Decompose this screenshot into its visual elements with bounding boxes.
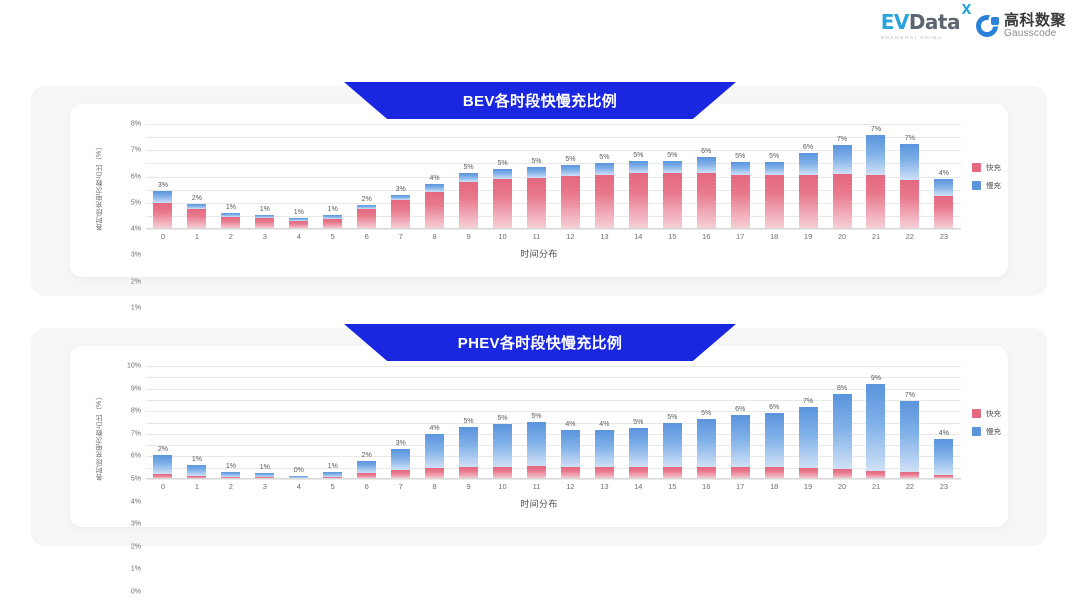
bar-segment-slow-charge[interactable] [900, 144, 919, 181]
bar-stack[interactable] [833, 145, 852, 229]
bar-stack[interactable] [561, 165, 580, 229]
bar-slot[interactable]: 1% [248, 124, 282, 229]
x-axis-tick-label: 23 [927, 232, 961, 241]
bar-slot[interactable]: 4% [587, 366, 621, 479]
x-axis-tick-label: 12 [553, 232, 587, 241]
bar-stack[interactable] [629, 161, 648, 229]
bar-stack[interactable] [323, 215, 342, 229]
bar-data-label: 7% [837, 136, 847, 143]
gausscode-text: 高科数聚 Gausscode [1004, 13, 1066, 39]
bar-data-label: 7% [905, 392, 915, 399]
bar-slot[interactable]: 5% [452, 366, 486, 479]
bar-data-label: 2% [158, 446, 168, 453]
bar-segment-slow-charge[interactable] [153, 455, 172, 474]
bar-segment-fast-charge[interactable] [663, 173, 682, 229]
gausscode-name-cn: 高科数聚 [1004, 13, 1066, 29]
bar-segment-fast-charge[interactable] [527, 178, 546, 229]
bar-stack[interactable] [527, 422, 546, 479]
bar-data-label: 5% [667, 414, 677, 421]
bar-stack[interactable] [357, 205, 376, 229]
bar-segment-slow-charge[interactable] [765, 413, 784, 466]
ribbon-title-phev-text: PHEV各时段快慢充比例 [458, 332, 622, 353]
y-axis-tick-label: 1% [131, 566, 141, 573]
ribbon-title-bev-text: BEV各时段快慢充比例 [463, 90, 617, 111]
bar-slot[interactable]: 4% [553, 366, 587, 479]
bar-stack[interactable] [866, 135, 885, 230]
bar-slot[interactable]: 7% [893, 124, 927, 229]
bar-segment-fast-charge[interactable] [391, 200, 410, 229]
bar-data-label: 6% [701, 148, 711, 155]
bar-segment-fast-charge[interactable] [934, 196, 953, 229]
bar-segment-slow-charge[interactable] [629, 161, 648, 172]
y-axis-label-bev: 各时段充电次数占比（%） [95, 126, 105, 231]
x-axis-tick-label: 0 [146, 482, 180, 491]
bar-slot[interactable]: 7% [893, 366, 927, 479]
bar-stack[interactable] [153, 191, 172, 229]
bar-stack[interactable] [731, 415, 750, 479]
x-axis-tick-label: 6 [350, 482, 384, 491]
bar-stack[interactable] [833, 394, 852, 479]
chart-phev: 各时段充电次数占比（%） 0%1%2%3%4%5%6%7%8%9%10% 2%1… [70, 346, 1008, 527]
bar-slot[interactable]: 3% [384, 366, 418, 479]
bar-series-phev: 2%1%1%1%0%1%2%3%4%5%5%5%4%4%5%5%5%6%6%7%… [146, 366, 961, 479]
x-axis-tick-label: 0 [146, 232, 180, 241]
bar-slot[interactable]: 7% [859, 124, 893, 229]
x-axis-tick-label: 17 [723, 482, 757, 491]
bar-data-label: 5% [497, 160, 507, 167]
bar-slot[interactable]: 5% [655, 366, 689, 479]
x-axis-tick-label: 20 [825, 232, 859, 241]
bar-data-label: 4% [939, 170, 949, 177]
bar-stack[interactable] [153, 455, 172, 479]
bar-slot[interactable]: 1% [214, 124, 248, 229]
bar-slot[interactable]: 6% [791, 124, 825, 229]
bar-slot[interactable]: 0% [282, 366, 316, 479]
bar-segment-slow-charge[interactable] [866, 384, 885, 472]
x-axis-ticks-bev: 01234567891011121314151617181920212223 [146, 232, 961, 241]
x-axis-tick-label: 21 [859, 232, 893, 241]
chart-card-phev: 各时段充电次数占比（%） 0%1%2%3%4%5%6%7%8%9%10% 2%1… [70, 346, 1008, 527]
ribbon-title-bev: BEV各时段快慢充比例 [344, 82, 736, 119]
bar-stack[interactable] [425, 184, 444, 229]
x-axis-ticks-phev: 01234567891011121314151617181920212223 [146, 482, 961, 491]
y-axis-tick-label: 5% [131, 199, 141, 206]
bar-segment-fast-charge[interactable] [595, 175, 614, 229]
x-axis-tick-label: 4 [282, 482, 316, 491]
bar-stack[interactable] [357, 461, 376, 479]
bar-segment-fast-charge[interactable] [833, 174, 852, 229]
bar-segment-slow-charge[interactable] [561, 165, 580, 176]
bar-segment-fast-charge[interactable] [425, 192, 444, 229]
bar-segment-slow-charge[interactable] [187, 465, 206, 475]
bar-data-label: 3% [396, 440, 406, 447]
bar-segment-slow-charge[interactable] [561, 430, 580, 466]
bar-stack[interactable] [697, 157, 716, 229]
x-axis-tick-label: 2 [214, 232, 248, 241]
bar-slot[interactable]: 5% [452, 124, 486, 229]
bar-segment-slow-charge[interactable] [833, 145, 852, 174]
bar-data-label: 2% [362, 452, 372, 459]
bar-segment-slow-charge[interactable] [663, 161, 682, 173]
bar-data-label: 5% [463, 418, 473, 425]
x-axis-label-bev: 时间分布 [70, 247, 1008, 260]
gausscode-name-en: Gausscode [1004, 29, 1066, 40]
bar-stack[interactable] [187, 465, 206, 479]
bar-segment-slow-charge[interactable] [934, 179, 953, 196]
x-axis-tick-label: 6 [350, 232, 384, 241]
bar-stack[interactable] [425, 434, 444, 479]
legend-label: 慢充 [986, 180, 1001, 191]
bar-data-label: 9% [871, 375, 881, 382]
x-axis-tick-label: 15 [655, 232, 689, 241]
x-axis-tick-label: 14 [621, 232, 655, 241]
y-axis-label-phev: 各时段充电次数占比（%） [95, 368, 105, 481]
y-axis-tick-label: 2% [131, 278, 141, 285]
bar-segment-fast-charge[interactable] [187, 209, 206, 229]
bar-segment-fast-charge[interactable] [493, 179, 512, 229]
bar-slot[interactable]: 5% [621, 366, 655, 479]
x-axis-tick-label: 10 [486, 232, 520, 241]
legend-swatch [972, 409, 981, 418]
bar-slot[interactable]: 6% [689, 124, 723, 229]
bar-data-label: 7% [905, 135, 915, 142]
bar-stack[interactable] [866, 384, 885, 479]
bar-data-label: 5% [769, 153, 779, 160]
x-axis-line-bev [146, 228, 961, 229]
bar-stack[interactable] [391, 449, 410, 480]
bar-segment-fast-charge[interactable] [629, 173, 648, 229]
bar-data-label: 4% [430, 175, 440, 182]
evdata-prefix: EV [881, 10, 909, 34]
bar-stack[interactable] [900, 144, 919, 229]
bar-slot[interactable]: 2% [350, 124, 384, 229]
x-axis-tick-label: 11 [519, 482, 553, 491]
bar-data-label: 8% [837, 385, 847, 392]
gausscode-logo: 高科数聚 Gausscode [976, 13, 1066, 39]
bar-slot[interactable]: 9% [859, 366, 893, 479]
x-axis-tick-label: 2 [214, 482, 248, 491]
bar-segment-slow-charge[interactable] [425, 434, 444, 468]
bar-segment-slow-charge[interactable] [391, 449, 410, 470]
plot-area-phev: 0%1%2%3%4%5%6%7%8%9%10% 2%1%1%1%0%1%2%3%… [146, 366, 961, 479]
bar-segment-fast-charge[interactable] [561, 176, 580, 229]
x-axis-tick-label: 10 [486, 482, 520, 491]
y-axis-tick-label: 2% [131, 543, 141, 550]
legend-item[interactable]: 慢充 [972, 180, 1001, 191]
bar-slot[interactable]: 1% [180, 366, 214, 479]
x-axis-tick-label: 21 [859, 482, 893, 491]
bar-data-label: 5% [599, 154, 609, 161]
bar-stack[interactable] [697, 419, 716, 479]
bar-data-label: 1% [328, 463, 338, 470]
bar-stack[interactable] [765, 162, 784, 229]
bar-segment-fast-charge[interactable] [357, 209, 376, 229]
bar-data-label: 5% [701, 410, 711, 417]
bar-segment-slow-charge[interactable] [799, 153, 818, 175]
y-axis-tick-label: 8% [131, 121, 141, 128]
bar-segment-fast-charge[interactable] [799, 175, 818, 229]
bar-slot[interactable]: 5% [757, 124, 791, 229]
bar-stack[interactable] [187, 204, 206, 229]
x-axis-tick-label: 11 [519, 232, 553, 241]
bar-data-label: 1% [226, 463, 236, 470]
bar-segment-fast-charge[interactable] [866, 175, 885, 229]
x-axis-tick-label: 14 [621, 482, 655, 491]
bar-series-bev: 3%2%1%1%1%1%2%3%4%5%5%5%5%5%5%5%6%5%5%6%… [146, 124, 961, 229]
x-axis-tick-label: 19 [791, 232, 825, 241]
y-axis-tick-label: 7% [131, 147, 141, 154]
bar-stack[interactable] [934, 439, 953, 479]
bar-segment-fast-charge[interactable] [900, 180, 919, 229]
bar-data-label: 5% [497, 415, 507, 422]
bar-slot[interactable]: 3% [146, 124, 180, 229]
bar-slot[interactable]: 5% [553, 124, 587, 229]
x-axis-tick-label: 5 [316, 232, 350, 241]
bar-slot[interactable]: 7% [825, 124, 859, 229]
evdata-suffix: Data [909, 10, 960, 34]
bar-data-label: 3% [396, 186, 406, 193]
bar-stack[interactable] [595, 430, 614, 479]
x-axis-line-phev [146, 478, 961, 479]
x-axis-tick-label: 7 [384, 482, 418, 491]
bar-data-label: 1% [226, 204, 236, 211]
bar-data-label: 5% [463, 164, 473, 171]
x-axis-tick-label: 5 [316, 482, 350, 491]
bar-segment-slow-charge[interactable] [934, 439, 953, 475]
x-axis-tick-label: 4 [282, 232, 316, 241]
x-axis-tick-label: 13 [587, 232, 621, 241]
x-axis-tick-label: 7 [384, 232, 418, 241]
bar-slot[interactable]: 6% [757, 366, 791, 479]
bar-segment-slow-charge[interactable] [595, 163, 614, 174]
bar-data-label: 4% [939, 430, 949, 437]
bar-data-label: 0% [294, 467, 304, 474]
bar-data-label: 6% [803, 144, 813, 151]
bar-segment-slow-charge[interactable] [900, 401, 919, 472]
bar-data-label: 6% [769, 404, 779, 411]
bar-data-label: 5% [633, 419, 643, 426]
x-axis-tick-label: 20 [825, 482, 859, 491]
bar-slot[interactable]: 4% [418, 124, 452, 229]
legend-item[interactable]: 快充 [972, 162, 1001, 173]
bar-slot[interactable]: 7% [791, 366, 825, 479]
bar-segment-slow-charge[interactable] [799, 407, 818, 468]
legend-swatch [972, 427, 981, 436]
y-axis-tick-label: 6% [131, 453, 141, 460]
bar-data-label: 7% [803, 398, 813, 405]
x-axis-tick-label: 9 [452, 232, 486, 241]
legend-swatch [972, 163, 981, 172]
bar-slot[interactable]: 5% [519, 124, 553, 229]
gridline: 0% [146, 229, 961, 230]
legend-item[interactable]: 慢充 [972, 426, 1001, 437]
bar-stack[interactable] [255, 215, 274, 229]
bar-stack[interactable] [799, 153, 818, 229]
slide-root: EVDataX SHANGHAI CHINA 高科数聚 Gausscode 各时… [0, 0, 1080, 608]
x-axis-tick-label: 12 [553, 482, 587, 491]
legend-label: 慢充 [986, 426, 1001, 437]
x-axis-tick-label: 18 [757, 482, 791, 491]
y-axis-tick-label: 0% [131, 589, 141, 596]
bar-data-label: 4% [430, 425, 440, 432]
bar-data-label: 4% [565, 421, 575, 428]
bar-data-label: 1% [328, 206, 338, 213]
chart-bev: 各时段充电次数占比（%） 0%1%2%3%4%5%6%7%8% 3%2%1%1%… [70, 104, 1008, 277]
evdata-superscript-icon: X [961, 4, 971, 17]
legend-swatch [972, 181, 981, 190]
bar-segment-slow-charge[interactable] [731, 415, 750, 467]
bar-stack[interactable] [934, 179, 953, 229]
x-axis-tick-label: 8 [418, 482, 452, 491]
bar-segment-slow-charge[interactable] [153, 191, 172, 203]
gridline: 0% [146, 479, 961, 480]
y-axis-tick-label: 1% [131, 304, 141, 311]
bar-segment-slow-charge[interactable] [866, 135, 885, 176]
x-axis-tick-label: 8 [418, 232, 452, 241]
bar-slot[interactable]: 5% [519, 366, 553, 479]
legend-phev: 快充慢充 [972, 408, 1001, 437]
legend-item[interactable]: 快充 [972, 408, 1001, 419]
x-axis-tick-label: 3 [248, 482, 282, 491]
bar-segment-slow-charge[interactable] [731, 162, 750, 175]
bar-slot[interactable]: 1% [248, 366, 282, 479]
bar-segment-slow-charge[interactable] [527, 422, 546, 466]
bar-data-label: 5% [633, 152, 643, 159]
y-axis-tick-label: 4% [131, 226, 141, 233]
x-axis-tick-label: 1 [180, 232, 214, 241]
bar-slot[interactable]: 5% [587, 124, 621, 229]
bar-stack[interactable] [765, 413, 784, 479]
bar-segment-fast-charge[interactable] [459, 182, 478, 229]
bar-slot[interactable]: 5% [486, 366, 520, 479]
bar-slot[interactable]: 5% [621, 124, 655, 229]
bar-stack[interactable] [459, 427, 478, 479]
bar-stack[interactable] [391, 195, 410, 229]
bar-data-label: 5% [735, 153, 745, 160]
bar-slot[interactable]: 8% [825, 366, 859, 479]
bar-slot[interactable]: 5% [689, 366, 723, 479]
bar-data-label: 1% [192, 456, 202, 463]
bar-segment-fast-charge[interactable] [765, 175, 784, 229]
x-axis-tick-label: 22 [893, 482, 927, 491]
y-axis-tick-label: 6% [131, 173, 141, 180]
x-axis-tick-label: 15 [655, 482, 689, 491]
bar-stack[interactable] [493, 424, 512, 479]
bar-segment-slow-charge[interactable] [697, 419, 716, 467]
bar-segment-slow-charge[interactable] [357, 461, 376, 473]
bar-segment-slow-charge[interactable] [663, 423, 682, 467]
evdata-wordmark: EVDataX [881, 12, 960, 32]
bar-data-label: 5% [565, 156, 575, 163]
bar-stack[interactable] [459, 173, 478, 229]
bar-slot[interactable]: 1% [316, 124, 350, 229]
bar-segment-slow-charge[interactable] [459, 173, 478, 182]
x-axis-tick-label: 18 [757, 232, 791, 241]
legend-label: 快充 [986, 408, 1001, 419]
bar-data-label: 2% [362, 196, 372, 203]
evdata-logo: EVDataX SHANGHAI CHINA [881, 12, 960, 40]
bar-segment-slow-charge[interactable] [765, 162, 784, 175]
bar-slot[interactable]: 1% [282, 124, 316, 229]
bar-slot[interactable]: 4% [927, 366, 961, 479]
bar-segment-slow-charge[interactable] [697, 157, 716, 173]
bar-segment-fast-charge[interactable] [697, 173, 716, 229]
bar-slot[interactable]: 6% [723, 366, 757, 479]
bar-slot[interactable]: 5% [486, 124, 520, 229]
bar-stack[interactable] [595, 163, 614, 229]
bar-segment-slow-charge[interactable] [527, 167, 546, 178]
bar-stack[interactable] [527, 167, 546, 229]
bar-segment-slow-charge[interactable] [595, 430, 614, 467]
y-axis-tick-label: 8% [131, 408, 141, 415]
bar-segment-slow-charge[interactable] [425, 184, 444, 191]
bar-slot[interactable]: 3% [384, 124, 418, 229]
bar-slot[interactable]: 1% [316, 366, 350, 479]
bar-data-label: 3% [158, 182, 168, 189]
bar-slot[interactable]: 5% [723, 124, 757, 229]
bar-data-label: 1% [260, 206, 270, 213]
x-axis-tick-label: 17 [723, 232, 757, 241]
bar-stack[interactable] [493, 169, 512, 229]
x-axis-tick-label: 23 [927, 482, 961, 491]
bar-stack[interactable] [900, 401, 919, 479]
bar-data-label: 2% [192, 195, 202, 202]
ribbon-title-phev: PHEV各时段快慢充比例 [344, 324, 736, 361]
bar-slot[interactable]: 2% [350, 366, 384, 479]
legend-label: 快充 [986, 162, 1001, 173]
bar-segment-slow-charge[interactable] [493, 169, 512, 180]
legend-bev: 快充慢充 [972, 162, 1001, 191]
chart-card-bev: 各时段充电次数占比（%） 0%1%2%3%4%5%6%7%8% 3%2%1%1%… [70, 104, 1008, 277]
x-axis-tick-label: 16 [689, 232, 723, 241]
y-axis-tick-label: 7% [131, 430, 141, 437]
x-axis-tick-label: 3 [248, 232, 282, 241]
x-axis-tick-label: 19 [791, 482, 825, 491]
bar-slot[interactable]: 2% [146, 366, 180, 479]
bar-stack[interactable] [221, 213, 240, 229]
x-axis-label-phev: 时间分布 [70, 497, 1008, 510]
bar-data-label: 6% [735, 406, 745, 413]
bar-data-label: 5% [531, 413, 541, 420]
bar-stack[interactable] [663, 423, 682, 479]
bar-data-label: 1% [260, 464, 270, 471]
bar-stack[interactable] [799, 407, 818, 479]
bar-segment-fast-charge[interactable] [153, 203, 172, 229]
bar-slot[interactable]: 2% [180, 124, 214, 229]
bar-slot[interactable]: 1% [214, 366, 248, 479]
bar-segment-slow-charge[interactable] [493, 424, 512, 466]
bar-segment-slow-charge[interactable] [833, 394, 852, 469]
bar-segment-fast-charge[interactable] [731, 175, 750, 229]
plot-area-bev: 0%1%2%3%4%5%6%7%8% 3%2%1%1%1%1%2%3%4%5%5… [146, 124, 961, 229]
bar-slot[interactable]: 4% [927, 124, 961, 229]
bar-stack[interactable] [629, 428, 648, 479]
bar-stack[interactable] [663, 161, 682, 229]
x-axis-tick-label: 22 [893, 232, 927, 241]
bar-stack[interactable] [731, 162, 750, 229]
evdata-subtitle: SHANGHAI CHINA [881, 35, 943, 40]
gausscode-circle-logo-icon [976, 15, 998, 37]
bar-segment-slow-charge[interactable] [629, 428, 648, 468]
x-axis-tick-label: 1 [180, 482, 214, 491]
bar-segment-slow-charge[interactable] [459, 427, 478, 467]
bar-slot[interactable]: 5% [655, 124, 689, 229]
bar-stack[interactable] [561, 430, 580, 479]
y-axis-tick-label: 3% [131, 521, 141, 528]
y-axis-tick-label: 5% [131, 476, 141, 483]
bar-slot[interactable]: 4% [418, 366, 452, 479]
logo-bar: EVDataX SHANGHAI CHINA 高科数聚 Gausscode [881, 12, 1066, 40]
